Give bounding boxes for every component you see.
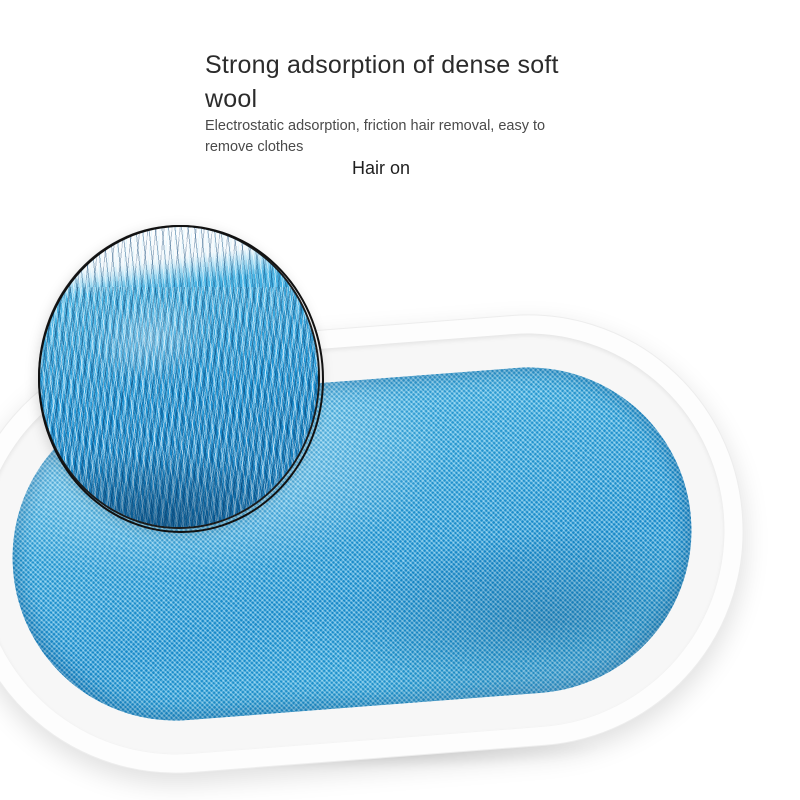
magnifier-content-label: magnified dense blue fiber texture: [0, 0, 1, 1]
caption-text: Hair on: [352, 155, 410, 181]
page-title: Strong adsorption of dense soft wool: [205, 48, 585, 116]
fiber-shadow-overlay: [38, 407, 320, 529]
faded-watermark-text: [300, 133, 630, 154]
product-promo-image: Strong adsorption of dense soft wool Ele…: [0, 0, 800, 800]
product-name-label: lint-remover-brush-pad: [0, 0, 1, 1]
zoom-callout-circle: [38, 225, 320, 529]
